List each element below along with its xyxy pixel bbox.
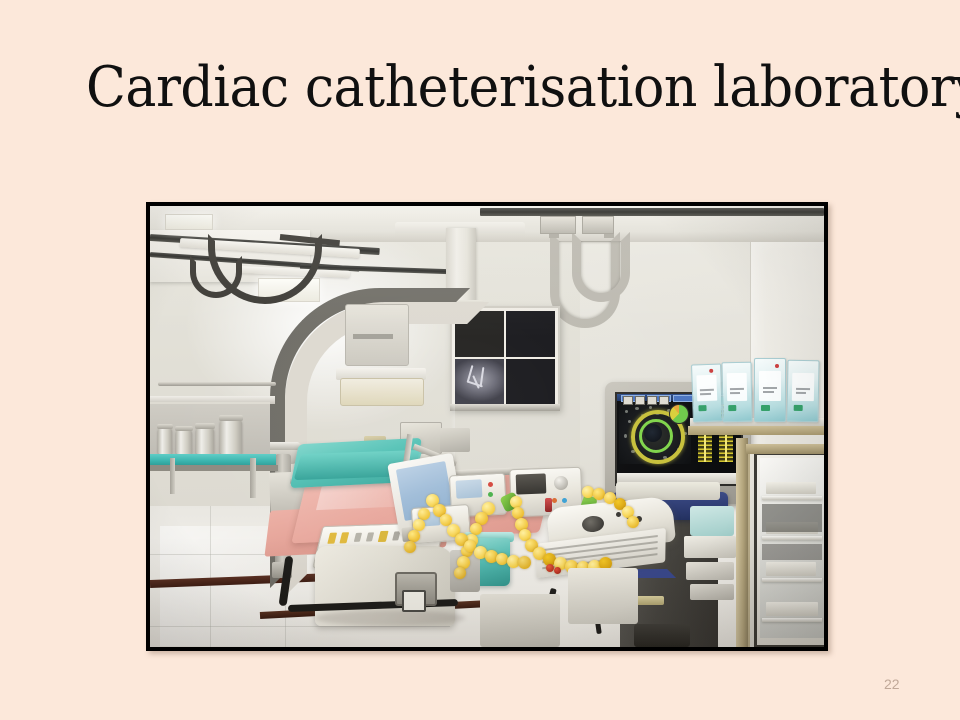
foot-pedal-switch[interactable] — [402, 590, 426, 612]
control-button[interactable] — [327, 533, 337, 544]
cabinet-stock-item — [766, 602, 818, 616]
page-title: Cardiac catheterisation laboratory — [86, 55, 849, 121]
injector-display — [516, 473, 547, 494]
shelf-trim — [688, 426, 824, 435]
conduit-junction-box — [582, 216, 614, 234]
page-number: 22 — [884, 676, 900, 692]
cath-lab-photograph — [150, 206, 824, 647]
foreground-cabinet — [480, 594, 560, 647]
cart-control-panel[interactable] — [616, 482, 720, 500]
ivus-lumen — [644, 424, 662, 442]
control-button[interactable] — [354, 533, 362, 542]
cabinet-mullion — [736, 438, 748, 647]
cabinet-top-trim — [746, 444, 824, 454]
ivus-plaque-pie-chart — [669, 404, 689, 424]
cabinet-shelf — [762, 496, 822, 500]
sterile-pack — [786, 360, 819, 423]
ceiling-lamp-panel — [165, 214, 213, 230]
control-button[interactable] — [366, 532, 374, 541]
control-button[interactable] — [339, 532, 349, 543]
cable-conduit-loop — [572, 232, 630, 302]
c-arm-tray — [340, 378, 424, 406]
cart-base — [634, 624, 690, 647]
ivus-control-button[interactable] — [659, 396, 669, 405]
ceiling-rail — [480, 208, 824, 216]
trolley-leg — [170, 458, 175, 494]
conduit-junction-box — [540, 216, 576, 234]
glass-jar — [196, 428, 214, 454]
background-supply-box — [686, 562, 734, 580]
glass-jar-lid — [195, 423, 215, 429]
status-led — [488, 492, 493, 497]
tile-seam — [150, 626, 450, 627]
glass-jar — [158, 428, 172, 454]
ivus-control-button[interactable] — [647, 396, 657, 405]
monitor-screen-2 — [506, 311, 555, 357]
console-button[interactable] — [616, 512, 621, 517]
background-supply-box — [684, 536, 736, 558]
slide: Cardiac catheterisation laboratory — [0, 0, 960, 720]
sterile-pack — [721, 362, 752, 423]
glass-jar-lid — [219, 415, 243, 421]
cabinet-shelf — [762, 618, 822, 622]
glass-jar — [176, 430, 192, 454]
background-supply-box — [690, 584, 734, 600]
cabinet-interior-shadow — [762, 504, 822, 532]
photo-frame — [146, 202, 828, 651]
monitor-screen-4 — [506, 359, 555, 405]
glass-jar-lid — [157, 424, 173, 429]
injector-knob[interactable] — [554, 476, 568, 490]
ivus-control-button[interactable] — [623, 396, 633, 405]
status-led — [562, 498, 567, 503]
cabinet-shelf — [762, 536, 822, 540]
cabinet-interior-shadow — [762, 544, 822, 560]
back-equipment-box — [440, 428, 470, 452]
cabinet-stock-item — [766, 482, 816, 494]
ivus-control-button[interactable] — [635, 396, 645, 405]
status-led — [552, 498, 557, 503]
table-base-shadow — [315, 610, 465, 626]
sterile-pack — [754, 358, 786, 422]
c-arm-collar — [266, 442, 300, 450]
trolley-leg — [250, 458, 256, 498]
glass-jar-lid — [175, 426, 193, 431]
cabinet-stock-item — [766, 562, 816, 576]
equipment-display — [456, 479, 483, 498]
red-marker-item — [545, 498, 552, 512]
background-supply-box — [690, 506, 734, 536]
back-bench-rail — [158, 382, 276, 386]
cabinet-shelf — [762, 578, 822, 582]
sterile-pack — [691, 363, 723, 422]
c-arm-detector-label — [353, 334, 393, 339]
control-button[interactable] — [378, 531, 389, 542]
glass-jar — [220, 420, 242, 454]
status-led — [488, 482, 493, 487]
foreground-equipment-base — [568, 568, 638, 624]
